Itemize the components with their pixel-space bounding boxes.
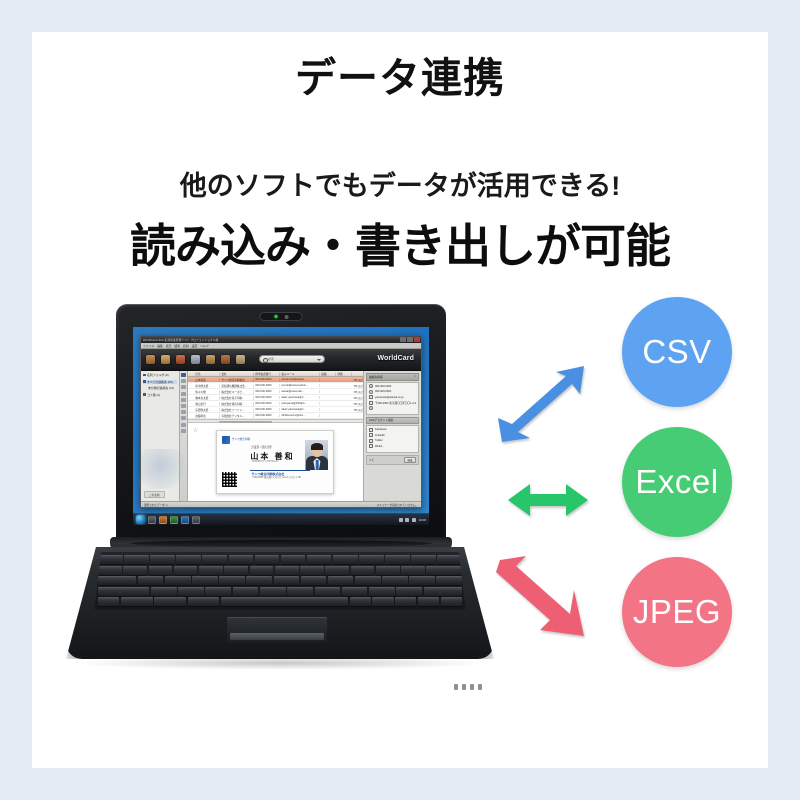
linkedin-icon: [369, 433, 373, 437]
cell-email: akari.yokozawa@ri...: [280, 408, 320, 411]
menu-item-edit[interactable]: 編集: [157, 344, 163, 348]
format-circle-csv[interactable]: CSV: [622, 297, 732, 407]
cell-company: 有限会社デジタル...: [220, 414, 254, 418]
keyboard-row: [98, 576, 462, 585]
key[interactable]: [342, 587, 368, 596]
diagonal-down-double-arrow: [494, 554, 590, 642]
fn-key[interactable]: [121, 597, 153, 606]
close-icon[interactable]: [414, 337, 420, 342]
arrow-right-key[interactable]: [441, 597, 462, 606]
power-led-icon: [454, 684, 458, 690]
key[interactable]: [333, 555, 358, 564]
cell-date: 7/8 (火): [352, 378, 363, 382]
page-subtitle: 他のソフトでもデータが活用できる!: [32, 164, 768, 203]
folder-tree-panel: 名刺フォルダ (8) すべての連絡先 (26) 未分類の連絡先 (10): [141, 371, 180, 501]
page-title: データ連携: [32, 54, 768, 103]
cell-phone: 000-000-0000: [254, 414, 280, 417]
key[interactable]: [250, 566, 274, 575]
diagonal-up-double-arrow: [494, 362, 590, 450]
horizontal-double-arrow: [506, 480, 590, 520]
cell-name: 横山直行: [194, 402, 220, 406]
cell-date: 7/8 (火): [352, 390, 363, 394]
column-header-name[interactable]: 氏名: [194, 372, 220, 376]
key[interactable]: [385, 555, 410, 564]
qr-code-icon: [221, 471, 238, 488]
menu-item-file[interactable]: ファイル: [143, 344, 154, 348]
card-divider: [250, 470, 310, 471]
keyboard-row: [98, 587, 462, 596]
maximize-icon[interactable]: [407, 337, 413, 342]
contact-row-address[interactable]: 〒000-0000 東京都〇〇区〇〇1-2-3: [369, 401, 416, 405]
key[interactable]: [376, 566, 400, 575]
contact-mail-value: yamamoto@sanwa.co.jp: [375, 396, 403, 399]
sns-row-weibo[interactable]: Weibo: [369, 444, 416, 448]
cell-date: 7/8 (火): [352, 396, 363, 400]
cell-date: 7/8 (火): [352, 384, 363, 388]
key[interactable]: [205, 587, 231, 596]
format-label-csv: CSV: [642, 333, 711, 371]
memo-section: メモ 編集: [366, 455, 419, 465]
menu-item-settings[interactable]: 設定: [192, 344, 198, 348]
tab-key[interactable]: [98, 576, 136, 585]
sns-row-facebook[interactable]: Facebook: [369, 428, 416, 432]
key[interactable]: [287, 587, 313, 596]
webcam-led-icon: [274, 315, 277, 318]
folder-icon: [143, 374, 146, 377]
cell-phone: 000-000-0000: [254, 378, 280, 381]
white-content-card: データ連携 他のソフトでもデータが活用できる! 読み込み・書き出しが可能 Wor…: [32, 32, 768, 768]
toolbar-icon-group[interactable]: [146, 355, 245, 364]
app-toolbar: 検索 WorldCard: [141, 349, 421, 371]
network-icon[interactable]: [399, 518, 403, 522]
alt-key[interactable]: [154, 597, 186, 606]
app-body: 名刺フォルダ (8) すべての連絡先 (26) 未分類の連絡先 (10): [141, 371, 421, 501]
column-header-dept[interactable]: 部署: [336, 372, 352, 376]
facebook-icon: [369, 428, 373, 432]
tree-footer-button[interactable]: この名刺: [144, 491, 165, 498]
key[interactable]: [123, 566, 147, 575]
cell-name: 山本善和: [194, 378, 220, 382]
sns-label: Twitter: [375, 439, 383, 442]
key[interactable]: [219, 576, 245, 585]
start-button-icon[interactable]: [136, 515, 145, 524]
weibo-icon: [369, 444, 373, 448]
windows-taskbar[interactable]: 10:00: [133, 513, 429, 525]
card-portrait-photo: [305, 440, 328, 470]
search-input[interactable]: 検索: [259, 355, 325, 363]
key[interactable]: [350, 597, 371, 606]
cell-company: 株式会社東京印刷...: [220, 396, 254, 400]
status-scanner-text: スキャナーが接続されていません。: [377, 503, 418, 507]
list-icon[interactable]: [236, 355, 245, 364]
key[interactable]: [409, 576, 435, 585]
laptop-shadow: [70, 656, 490, 670]
contact-row-mobile[interactable]: 000-000-0000: [369, 390, 416, 394]
battery-icon[interactable]: [412, 518, 416, 522]
phone-icon: [369, 384, 373, 388]
sns-row-linkedin[interactable]: LinkedIn: [369, 433, 416, 437]
key[interactable]: [199, 566, 223, 575]
memo-label: メモ: [369, 458, 374, 462]
key[interactable]: [355, 576, 381, 585]
key[interactable]: [325, 566, 349, 575]
trash-icon: [143, 393, 146, 396]
key[interactable]: [359, 555, 384, 564]
cell-company: 株式会社横浜印刷...: [220, 402, 254, 406]
business-card-preview-area: ☆ サンワ総合印刷 営業部 / 課長代理 山本 善和 YAMAMO: [188, 423, 363, 501]
tree-item-label: 名刺フォルダ (8): [147, 373, 169, 377]
key[interactable]: [372, 597, 393, 606]
key[interactable]: [351, 566, 375, 575]
column-header-email[interactable]: 電子メール: [280, 372, 320, 376]
column-header-title[interactable]: 役職: [320, 372, 336, 376]
keyboard-row: [98, 566, 462, 575]
key[interactable]: [149, 566, 173, 575]
grid-view-icon[interactable]: [181, 373, 186, 377]
key[interactable]: [301, 576, 327, 585]
key[interactable]: [328, 576, 354, 585]
key[interactable]: [246, 576, 272, 585]
app-window-title: WorldCard Ultra 名刺認識管理ソフト プロフェッショナル版: [143, 338, 218, 342]
key[interactable]: [382, 576, 408, 585]
search-placeholder: 検索: [268, 357, 274, 361]
key[interactable]: [229, 555, 254, 564]
sns-row-twitter[interactable]: Twitter: [369, 439, 416, 443]
taskbar-excel-icon[interactable]: [170, 516, 178, 524]
export-icon[interactable]: [206, 355, 215, 364]
key[interactable]: [274, 576, 300, 585]
key[interactable]: [437, 555, 462, 564]
tree-item-label: ゴミ箱 (2): [147, 393, 160, 397]
cell-email: yokoyama@000@w...: [280, 402, 320, 405]
key[interactable]: [369, 587, 395, 596]
contact-mobile-value: 000-000-0000: [375, 390, 391, 393]
ctrl-key[interactable]: [98, 597, 119, 606]
column-header-company[interactable]: 会社: [220, 372, 254, 376]
contact-row-phone[interactable]: 000-000-0000: [369, 384, 416, 388]
key[interactable]: [255, 555, 280, 564]
twitter-icon: [369, 439, 373, 443]
card-view-icon[interactable]: [181, 379, 186, 383]
portrait-hair: [311, 443, 323, 450]
portrait-tie: [316, 460, 319, 470]
cell-company: 東和通信機器株式会...: [220, 384, 254, 388]
key[interactable]: [233, 587, 259, 596]
folder-icon: [143, 380, 146, 383]
tag-icon[interactable]: [181, 398, 186, 402]
laptop-lid: WorldCard Ultra 名刺認識管理ソフト プロフェッショナル版 ファイ…: [116, 304, 446, 542]
key[interactable]: [401, 566, 425, 575]
cell-email: suzuki@towa-tsushin...: [280, 384, 320, 387]
cell-phone: 000-000-0000: [254, 396, 280, 399]
recognize-icon[interactable]: [191, 355, 200, 364]
page-root: データ連携 他のソフトでもデータが活用できる! 読み込み・書き出しが可能 Wor…: [0, 0, 800, 800]
key[interactable]: [150, 555, 175, 564]
sns-label: Weibo: [375, 445, 382, 448]
key[interactable]: [176, 555, 201, 564]
volume-icon[interactable]: [405, 518, 409, 522]
key[interactable]: [98, 566, 122, 575]
logo-mark-icon: [222, 436, 230, 444]
memo-edit-button[interactable]: 編集: [404, 457, 416, 463]
key[interactable]: [138, 576, 164, 585]
key[interactable]: [192, 576, 218, 585]
worldcard-app-window: WorldCard Ultra 名刺認識管理ソフト プロフェッショナル版 ファイ…: [140, 335, 422, 508]
menu-item-search[interactable]: 検索: [174, 344, 180, 348]
sns-label: Facebook: [375, 428, 386, 431]
app-titlebar: WorldCard Ultra 名刺認識管理ソフト プロフェッショナル版: [141, 336, 421, 343]
contact-fields-box: 000-000-0000 000-000-0000 yamamoto@sanwa…: [366, 382, 419, 415]
scan-icon[interactable]: [146, 355, 155, 364]
laptop-keyboard: [94, 552, 466, 610]
cmd-key[interactable]: [188, 597, 220, 606]
sns-section-title: SNSアカウント検索: [366, 417, 419, 425]
contacts-grid-panel: 氏名 会社 携帯電話番号 電子メール 役職 部署: [188, 371, 363, 501]
rotate-icon[interactable]: [161, 355, 170, 364]
key[interactable]: [151, 587, 177, 596]
mail-icon: [369, 395, 373, 399]
card-person-name-roman: YAMAMOTO YOSHIKAZU: [251, 461, 278, 463]
share-icon[interactable]: [181, 410, 186, 414]
key[interactable]: [124, 555, 149, 564]
cell-name: 佐々木優: [194, 390, 220, 394]
cell-name: 鈴木隆太郎: [194, 384, 220, 388]
delete-icon[interactable]: [181, 416, 186, 420]
worldcard-brand-logo: WorldCard: [377, 355, 414, 362]
taskbar-clock[interactable]: 10:00: [418, 518, 426, 522]
contact-details-title: 連絡先情報 ×: [366, 373, 419, 381]
laptop-illustration: WorldCard Ultra 名刺認識管理ソフト プロフェッショナル版 ファイ…: [60, 304, 500, 704]
sort-icon[interactable]: [181, 392, 186, 396]
settings-icon[interactable]: [181, 423, 186, 427]
cell-email: sasaki@usevi-lab...: [280, 390, 320, 393]
cell-phone: 000-000-0000: [254, 408, 280, 411]
format-label-jpeg: JPEG: [633, 593, 721, 631]
key[interactable]: [224, 566, 248, 575]
taskbar-browser-icon[interactable]: [181, 516, 189, 524]
menu-item-view[interactable]: 表示: [166, 344, 172, 348]
laptop-trackpad[interactable]: [227, 617, 327, 643]
backspace-key[interactable]: [426, 566, 462, 575]
contact-row-mail[interactable]: yamamoto@sanwa.co.jp: [369, 395, 416, 399]
sns-label: LinkedIn: [375, 434, 385, 437]
card-company-name: サンワ総合印刷株式会社: [251, 472, 284, 476]
key[interactable]: [315, 587, 341, 596]
card-role: 営業部 / 課長代理: [251, 445, 271, 449]
caps-lock-key[interactable]: [98, 587, 149, 596]
status-selection-text: 選択されたデータ: 1: [144, 503, 168, 507]
mobile-icon: [369, 390, 373, 394]
cell-company: 株式会社ユーズビ...: [220, 390, 254, 394]
sns-list-box: Facebook LinkedIn Twitter: [366, 425, 419, 452]
key[interactable]: [436, 576, 462, 585]
arrow-up-key[interactable]: [418, 597, 439, 606]
key[interactable]: [281, 555, 306, 564]
cell-phone: 000-000-0000: [254, 402, 280, 405]
cell-date: 7/8 (火): [352, 408, 363, 412]
globe-icon: [369, 406, 373, 410]
key[interactable]: [165, 576, 191, 585]
window-controls[interactable]: [400, 337, 420, 342]
print-icon[interactable]: [181, 404, 186, 408]
key[interactable]: [307, 555, 332, 564]
format-label-excel: Excel: [635, 463, 718, 501]
chevron-down-icon[interactable]: [317, 359, 321, 361]
cell-name: 齋藤利恵: [194, 414, 220, 418]
key[interactable]: [178, 587, 204, 596]
key[interactable]: [275, 566, 299, 575]
close-icon[interactable]: ×: [414, 375, 416, 378]
laptop-screen: WorldCard Ultra 名刺認識管理ソフト プロフェッショナル版 ファイ…: [133, 327, 429, 525]
format-circle-jpeg[interactable]: JPEG: [622, 557, 732, 667]
wifi-led-icon: [478, 684, 482, 690]
cell-name: 矢野健太郎: [194, 408, 220, 412]
contact-row-web[interactable]: [369, 406, 416, 410]
filter-icon[interactable]: [181, 385, 186, 389]
drive-led-icon: [470, 684, 474, 690]
camera-icon[interactable]: [176, 355, 185, 364]
info-icon[interactable]: [181, 429, 186, 433]
tree-item-trash[interactable]: ゴミ箱 (2): [143, 393, 177, 397]
page-lead-headline: 読み込み・書き出しが可能: [32, 210, 768, 276]
key[interactable]: [411, 555, 436, 564]
address-icon: [369, 401, 373, 405]
webcam-icon: [260, 312, 303, 321]
system-tray[interactable]: 10:00: [399, 518, 426, 522]
menu-item-card[interactable]: 名刺: [183, 344, 189, 348]
card-address: 〒000-0000 東京都〇〇区〇〇1-2-3 〇〇ビル 5F: [251, 477, 301, 480]
status-led-indicators: [454, 684, 482, 690]
tree-item-card-folder[interactable]: 名刺フォルダ (8): [143, 373, 177, 377]
tree-item-label: 未分類の連絡先 (10): [148, 386, 174, 390]
minimize-icon[interactable]: [400, 337, 406, 342]
app-status-bar: 選択されたデータ: 1 スキャナーが接続されていません。: [141, 501, 421, 507]
menu-item-help[interactable]: ヘルプ: [200, 344, 208, 348]
key[interactable]: [202, 555, 227, 564]
taskbar-explorer-icon[interactable]: [148, 516, 156, 524]
tree-item-label: すべての連絡先 (26): [147, 380, 173, 384]
webcam-lens-icon: [284, 315, 288, 319]
key[interactable]: [300, 566, 324, 575]
battery-led-icon: [462, 684, 466, 690]
cell-company: 株式会社リードシ...: [220, 408, 254, 412]
cell-email: yamamoto@sanwa...: [280, 378, 320, 381]
taskbar-app-icon[interactable]: [159, 516, 167, 524]
tree-item-unclassified[interactable]: 未分類の連絡先 (10): [143, 386, 177, 390]
cell-email: akari.yokozawa@ri...: [280, 396, 320, 399]
cell-phone: 000-000-0000: [254, 390, 280, 393]
tree-item-all-contacts[interactable]: すべての連絡先 (26): [143, 380, 177, 384]
space-key[interactable]: [221, 597, 348, 606]
cell-name: 橋本良太郎: [194, 396, 220, 400]
taskbar-worldcard-icon[interactable]: [192, 516, 200, 524]
column-header-phone[interactable]: 携帯電話番号: [254, 372, 280, 376]
enter-key[interactable]: [424, 587, 463, 596]
keyboard-row: [98, 597, 462, 606]
key[interactable]: [174, 566, 198, 575]
cell-date: 7/8 (火): [352, 402, 363, 406]
sync-icon[interactable]: [221, 355, 230, 364]
contact-details-panel: 連絡先情報 × 000-000-0000: [363, 371, 421, 501]
arrow-left-key[interactable]: [395, 597, 416, 606]
cell-company: サンワ総合印刷株式...: [220, 378, 254, 382]
cell-email: 2233sunumu@dvn...: [280, 414, 320, 417]
key[interactable]: [98, 555, 123, 564]
keyboard-row: [98, 555, 462, 564]
panel-title-text: 連絡先情報: [369, 376, 382, 379]
format-circle-excel[interactable]: Excel: [622, 427, 732, 537]
panel-globe-watermark-icon: [141, 449, 187, 489]
card-company-logo: サンワ総合印刷: [222, 436, 250, 444]
card-logo-text: サンワ総合印刷: [232, 439, 250, 442]
cell-phone: 000-000-0000: [254, 384, 280, 387]
favorite-star-icon[interactable]: ☆: [193, 428, 198, 434]
key[interactable]: [260, 587, 286, 596]
contact-phone-value: 000-000-0000: [375, 385, 391, 388]
key[interactable]: [396, 587, 422, 596]
business-card-image: サンワ総合印刷 営業部 / 課長代理 山本 善和 YAMAMOTO YOSHIK…: [216, 430, 334, 494]
contact-address-value: 〒000-0000 東京都〇〇区〇〇1-2-3: [375, 401, 416, 405]
